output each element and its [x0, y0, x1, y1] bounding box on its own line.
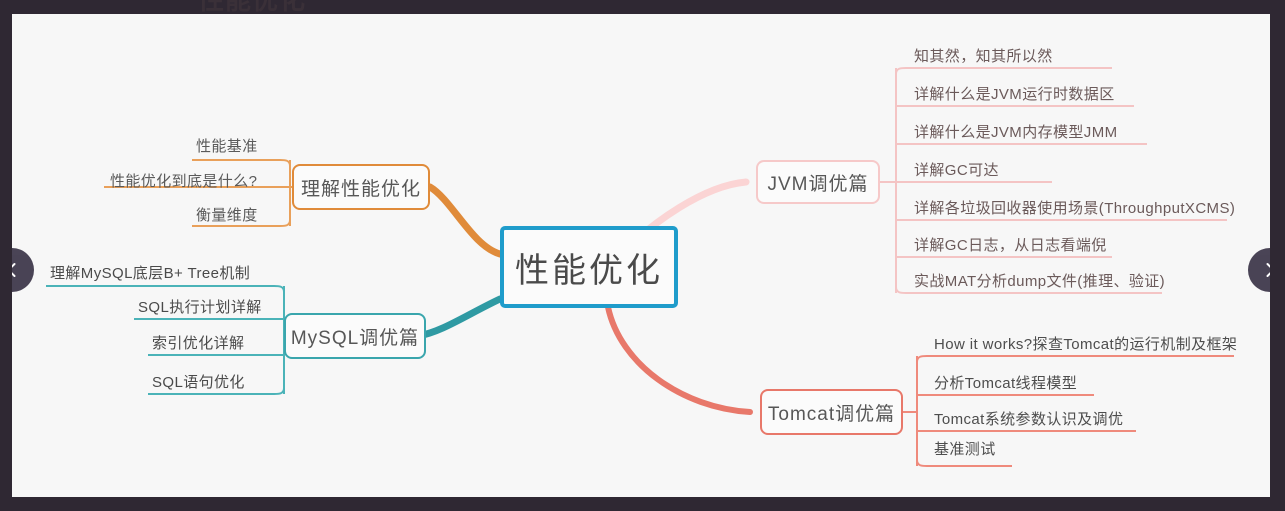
- leaf-jvm-tuning-5[interactable]: 详解GC日志，从日志看端倪: [914, 234, 1107, 258]
- leaf-jvm-tuning-0[interactable]: 知其然，知其所以然: [914, 45, 1053, 69]
- clipped-heading-text: 性能优化: [198, 0, 306, 14]
- leaf-mysql-tuning-3[interactable]: SQL语句优化: [152, 371, 245, 395]
- branch-node-mysql-tuning[interactable]: MySQL调优篇: [284, 313, 426, 359]
- branch-label-mysql-tuning: MySQL调优篇: [291, 323, 419, 350]
- root-node-label: 性能优化: [515, 243, 663, 292]
- leaf-mysql-tuning-1[interactable]: SQL执行计划详解: [138, 296, 262, 320]
- leaf-tomcat-tuning-3[interactable]: 基准测试: [934, 438, 996, 462]
- branch-label-tomcat-tuning: Tomcat调优篇: [768, 399, 895, 426]
- leaf-jvm-tuning-1[interactable]: 详解什么是JVM运行时数据区: [914, 83, 1115, 107]
- chevron-right-icon: [1260, 260, 1270, 280]
- leaf-tomcat-tuning-0[interactable]: How it works?探查Tomcat的运行机制及框架: [934, 333, 1237, 357]
- leaf-jvm-tuning-3[interactable]: 详解GC可达: [914, 159, 999, 183]
- branch-label-understand-perf: 理解性能优化: [301, 174, 421, 201]
- leaf-jvm-tuning-6[interactable]: 实战MAT分析dump文件(推理、验证): [914, 270, 1165, 294]
- branch-node-jvm-tuning[interactable]: JVM调优篇: [756, 160, 880, 204]
- leaf-understand-perf-2[interactable]: 衡量维度: [196, 204, 258, 228]
- leaf-understand-perf-1[interactable]: 性能优化到底是什么?: [110, 170, 257, 194]
- mindmap-page: 性能优化 理解性能优化 性能基准 性能优化到底是什么? 衡量维度 MySQL调优…: [12, 14, 1270, 497]
- leaf-tomcat-tuning-1[interactable]: 分析Tomcat线程模型: [934, 372, 1077, 396]
- leaf-mysql-tuning-2[interactable]: 索引优化详解: [152, 332, 244, 356]
- leaf-tomcat-tuning-2[interactable]: Tomcat系统参数认识及调优: [934, 408, 1123, 432]
- root-node[interactable]: 性能优化: [500, 226, 678, 308]
- branch-node-tomcat-tuning[interactable]: Tomcat调优篇: [760, 389, 903, 435]
- leaf-jvm-tuning-2[interactable]: 详解什么是JVM内存模型JMM: [914, 121, 1118, 145]
- mindmap-viewport: 性能优化: [0, 0, 1285, 511]
- branch-node-understand-perf[interactable]: 理解性能优化: [292, 164, 430, 210]
- top-dark-strip: 性能优化: [0, 0, 1285, 14]
- chevron-left-icon: [12, 260, 22, 280]
- leaf-understand-perf-0[interactable]: 性能基准: [196, 135, 258, 159]
- branch-label-jvm-tuning: JVM调优篇: [767, 169, 868, 196]
- leaf-mysql-tuning-0[interactable]: 理解MySQL底层B+ Tree机制: [50, 262, 250, 286]
- leaf-jvm-tuning-4[interactable]: 详解各垃圾回收器使用场景(ThroughputXCMS): [914, 197, 1235, 221]
